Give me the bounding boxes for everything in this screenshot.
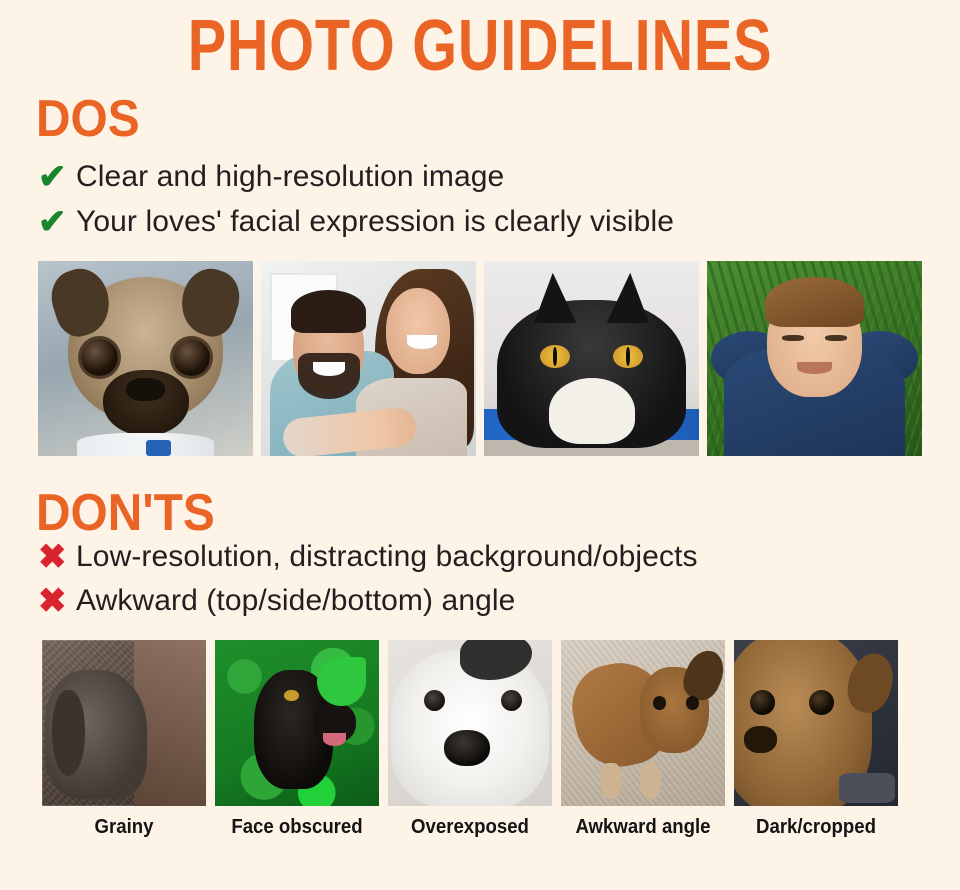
page-title: PHOTO GUIDELINES [96, 6, 864, 86]
caption-face-obscured: Face obscured [221, 814, 374, 840]
dos-photo-row [38, 261, 922, 456]
dont-item-1-label: Low-resolution, distracting background/o… [76, 540, 698, 574]
dos-photo-couple [261, 261, 476, 456]
dont-photo-awkward-angle [561, 640, 725, 806]
section-heading-dos: DOS [36, 93, 140, 145]
caption-dark-cropped: Dark/cropped [740, 814, 893, 840]
do-item-2: ✔ Your loves' facial expression is clear… [38, 205, 674, 239]
dont-item-2: ✖ Awkward (top/side/bottom) angle [38, 584, 515, 618]
dos-photo-pug [38, 261, 253, 456]
do-item-1: ✔ Clear and high-resolution image [38, 160, 504, 194]
dont-photo-grainy [42, 640, 206, 806]
dos-photo-cat [484, 261, 699, 456]
dont-item-1: ✖ Low-resolution, distracting background… [38, 540, 698, 574]
cross-icon: ✖ [38, 540, 76, 574]
caption-overexposed: Overexposed [394, 814, 547, 840]
donts-caption-row: Grainy Face obscured Overexposed Awkward… [42, 814, 898, 840]
section-heading-donts: DON'TS [36, 487, 215, 539]
do-item-2-label: Your loves' facial expression is clearly… [76, 205, 674, 239]
do-item-1-label: Clear and high-resolution image [76, 160, 504, 194]
dont-photo-dark-cropped [734, 640, 898, 806]
dont-photo-overexposed [388, 640, 552, 806]
caption-awkward-angle: Awkward angle [567, 814, 720, 840]
caption-grainy: Grainy [48, 814, 201, 840]
donts-photo-row [42, 640, 898, 806]
check-icon: ✔ [38, 160, 76, 194]
dont-photo-face-obscured [215, 640, 379, 806]
dos-photo-boy [707, 261, 922, 456]
check-icon: ✔ [38, 205, 76, 239]
cross-icon: ✖ [38, 584, 76, 618]
dont-item-2-label: Awkward (top/side/bottom) angle [76, 584, 515, 618]
